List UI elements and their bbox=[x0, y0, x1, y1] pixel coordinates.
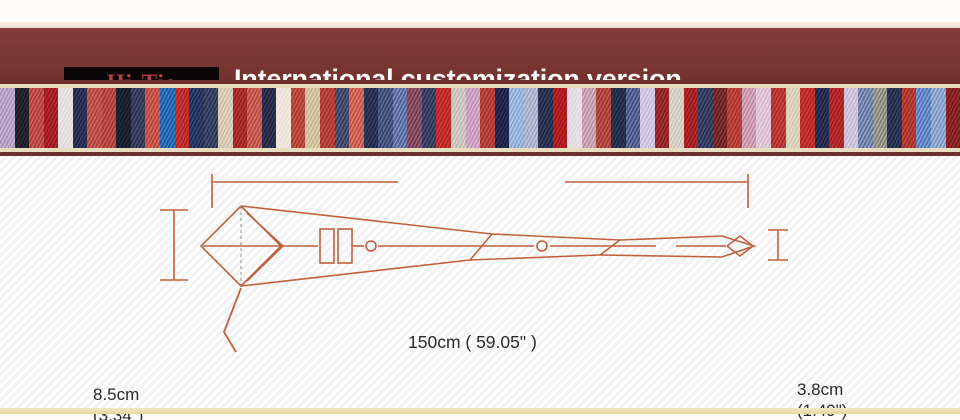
necktie-thumbnail bbox=[145, 84, 160, 152]
necktie-thumbnail bbox=[553, 84, 568, 152]
necktie-thumbnail bbox=[756, 84, 771, 152]
necktie-thumbnail bbox=[131, 84, 146, 152]
necktie-thumbnail bbox=[742, 84, 757, 152]
body-lower-edge-1 bbox=[241, 260, 470, 286]
necktie-thumbnail bbox=[698, 84, 713, 152]
necktie-thumbnail bbox=[102, 84, 117, 152]
necktie-thumbnail bbox=[931, 84, 946, 152]
product-spec-banner: Hi-Tie International customization versi… bbox=[0, 0, 960, 420]
necktie-collection-photo-strip bbox=[0, 80, 960, 156]
necktie-thumbnail bbox=[858, 84, 873, 152]
necktie-thumbnail bbox=[800, 84, 815, 152]
necktie-thumbnail bbox=[364, 84, 379, 152]
necktie-thumbnail bbox=[786, 84, 801, 152]
necktie-thumbnail bbox=[480, 84, 495, 152]
necktie-thumbnail bbox=[73, 84, 88, 152]
necktie-thumbnail bbox=[15, 84, 30, 152]
body-upper-edge-1 bbox=[241, 206, 492, 234]
necktie-thumbnail bbox=[524, 84, 539, 152]
necktie-thumbnail bbox=[538, 84, 553, 152]
necktie-thumbnail bbox=[335, 84, 350, 152]
narrow-end-cm: 3.8cm bbox=[797, 379, 847, 400]
keeper-loop-1 bbox=[320, 229, 334, 263]
necktie-thumbnail bbox=[29, 84, 44, 152]
photo-strip-inner bbox=[0, 84, 960, 152]
photo-strip-top-edge bbox=[0, 84, 960, 88]
narrow-upper-edge bbox=[620, 236, 722, 240]
necktie-thumbnail bbox=[887, 84, 902, 152]
necktie-thumbnail bbox=[451, 84, 466, 152]
necktie-thumbnail bbox=[436, 84, 451, 152]
necktie-thumbnail bbox=[567, 84, 582, 152]
necktie-thumbnail bbox=[713, 84, 728, 152]
necktie-thumbnail bbox=[175, 84, 190, 152]
header-bar: Hi-Tie International customization versi… bbox=[0, 28, 960, 80]
photo-strip-bottom-edge bbox=[0, 148, 960, 152]
necktie-thumbnail bbox=[669, 84, 684, 152]
necktie-thumbnail bbox=[247, 84, 262, 152]
necktie-thumbnail bbox=[218, 84, 233, 152]
panel-bottom-divider bbox=[0, 408, 960, 414]
necktie-thumbnail bbox=[262, 84, 277, 152]
necktie-thumbnail bbox=[815, 84, 830, 152]
necktie-thumbnail bbox=[873, 84, 888, 152]
seam-mid-right bbox=[600, 240, 620, 255]
necktie-thumbnail bbox=[495, 84, 510, 152]
necktie-thumbnail bbox=[844, 84, 859, 152]
narrow-lower-edge bbox=[600, 255, 722, 257]
necktie-thumbnail bbox=[422, 84, 437, 152]
necktie-thumbnail bbox=[320, 84, 335, 152]
necktie-thumbnail bbox=[407, 84, 422, 152]
wide-end-dimension-label: 8.5cm (3.34") bbox=[93, 384, 143, 420]
necktie-thumbnail bbox=[596, 84, 611, 152]
necktie-thumbnail bbox=[727, 84, 742, 152]
necktie-thumbnail bbox=[393, 84, 408, 152]
necktie-thumbnail bbox=[509, 84, 524, 152]
top-white-band bbox=[0, 0, 960, 24]
necktie-thumbnail bbox=[582, 84, 597, 152]
necktie-thumbnail bbox=[466, 84, 481, 152]
necktie-thumbnails bbox=[0, 84, 960, 152]
necktie-thumbnail bbox=[305, 84, 320, 152]
necktie-thumbnail bbox=[626, 84, 641, 152]
necktie-thumbnail bbox=[684, 84, 699, 152]
necktie-outline-drawing bbox=[0, 156, 960, 414]
necktie-thumbnail bbox=[378, 84, 393, 152]
necktie-thumbnail bbox=[640, 84, 655, 152]
necktie-thumbnail bbox=[276, 84, 291, 152]
necktie-thumbnail bbox=[611, 84, 626, 152]
necktie-thumbnail bbox=[58, 84, 73, 152]
wide-tip-diamond-inner bbox=[247, 213, 283, 281]
marker-circle-1 bbox=[366, 241, 376, 251]
keeper-loop-2 bbox=[338, 229, 352, 263]
body-upper-edge-2 bbox=[492, 234, 620, 240]
diagram-panel: 150cm ( 59.05" ) 8.5cm (3.34") 3.8cm (1.… bbox=[0, 156, 960, 414]
necktie-thumbnail bbox=[655, 84, 670, 152]
necktie-thumbnail bbox=[160, 84, 175, 152]
necktie-thumbnail bbox=[87, 84, 102, 152]
necktie-thumbnail bbox=[829, 84, 844, 152]
marker-circle-2 bbox=[537, 241, 547, 251]
necktie-thumbnail bbox=[902, 84, 917, 152]
necktie-thumbnail bbox=[189, 84, 204, 152]
necktie-thumbnail bbox=[349, 84, 364, 152]
length-dimension-label: 150cm ( 59.05" ) bbox=[404, 332, 541, 353]
necktie-thumbnail bbox=[291, 84, 306, 152]
necktie-thumbnail bbox=[233, 84, 248, 152]
seam-mid-left bbox=[470, 234, 492, 260]
necktie-thumbnail bbox=[116, 84, 131, 152]
necktie-thumbnail bbox=[0, 84, 15, 152]
body-lower-edge-2 bbox=[470, 255, 600, 260]
necktie-thumbnail bbox=[916, 84, 931, 152]
necktie-thumbnail bbox=[771, 84, 786, 152]
necktie-thumbnail bbox=[946, 84, 960, 152]
wide-end-cm: 8.5cm bbox=[93, 384, 143, 405]
necktie-thumbnail bbox=[44, 84, 59, 152]
necktie-thumbnail bbox=[204, 84, 219, 152]
angle-leader-line bbox=[224, 288, 241, 352]
